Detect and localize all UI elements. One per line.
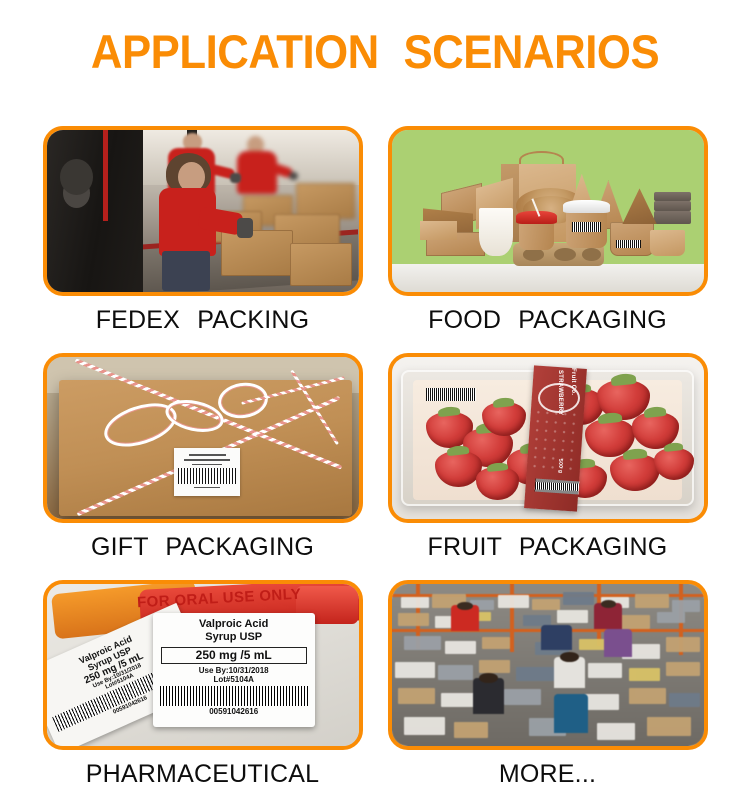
rx-barcode-number: 00591042616 — [153, 707, 315, 716]
scenario-caption: FEDEX PACKING — [35, 306, 370, 335]
scenario-caption: FOOD PACKAGING — [380, 306, 715, 335]
scenario-grid: FEDEX PACKING — [0, 120, 750, 801]
rx-use-by: Use By:10/31/2018 — [153, 666, 315, 675]
rx-drug-line2: Syrup USP — [153, 631, 315, 644]
rx-lot: Lot#5104A — [153, 675, 315, 684]
rx-drug-line1: Valproic Acid — [153, 618, 315, 631]
fedex-packing-photo — [47, 130, 359, 292]
application-scenarios-banner: APPLICATION SCENARIOS — [0, 0, 750, 800]
gift-packaging-photo — [47, 357, 359, 519]
card-frame — [388, 126, 708, 296]
card-frame — [43, 126, 363, 296]
card-frame: Fruit Co. STRAWBERRY 500 g — [388, 353, 708, 523]
scenario-caption: FRUIT PACKAGING — [380, 533, 715, 562]
scenario-caption: MORE... — [380, 760, 715, 789]
scenario-caption: PHARMACEUTICAL — [35, 760, 370, 789]
more-sorting-photo — [392, 584, 704, 746]
scenario-card-fruit-packaging[interactable]: Fruit Co. STRAWBERRY 500 g FRUIT PACKAGI… — [380, 347, 715, 574]
card-frame: FOR ORAL USE ONLY Valproic Acid Syrup US… — [43, 580, 363, 750]
rx-barcode — [160, 686, 308, 706]
fruit-packaging-photo: Fruit Co. STRAWBERRY 500 g — [392, 357, 704, 519]
page-title: APPLICATION SCENARIOS — [26, 26, 724, 78]
food-packaging-photo — [392, 130, 704, 292]
scenario-card-fedex-packing[interactable]: FEDEX PACKING — [35, 120, 370, 347]
scenario-card-gift-packaging[interactable]: GIFT PACKAGING — [35, 347, 370, 574]
scenario-caption: GIFT PACKAGING — [35, 533, 370, 562]
pharmaceutical-photo: FOR ORAL USE ONLY Valproic Acid Syrup US… — [47, 584, 359, 746]
scenario-card-food-packaging[interactable]: FOOD PACKAGING — [380, 120, 715, 347]
card-frame — [43, 353, 363, 523]
rx-label: Valproic Acid Syrup USP 250 mg /5 mL Use… — [153, 613, 315, 726]
scenario-card-more[interactable]: MORE... — [380, 574, 715, 801]
card-frame — [388, 580, 708, 750]
scenario-card-pharmaceutical[interactable]: FOR ORAL USE ONLY Valproic Acid Syrup US… — [35, 574, 370, 801]
rx-strength: 250 mg /5 mL — [161, 647, 307, 664]
